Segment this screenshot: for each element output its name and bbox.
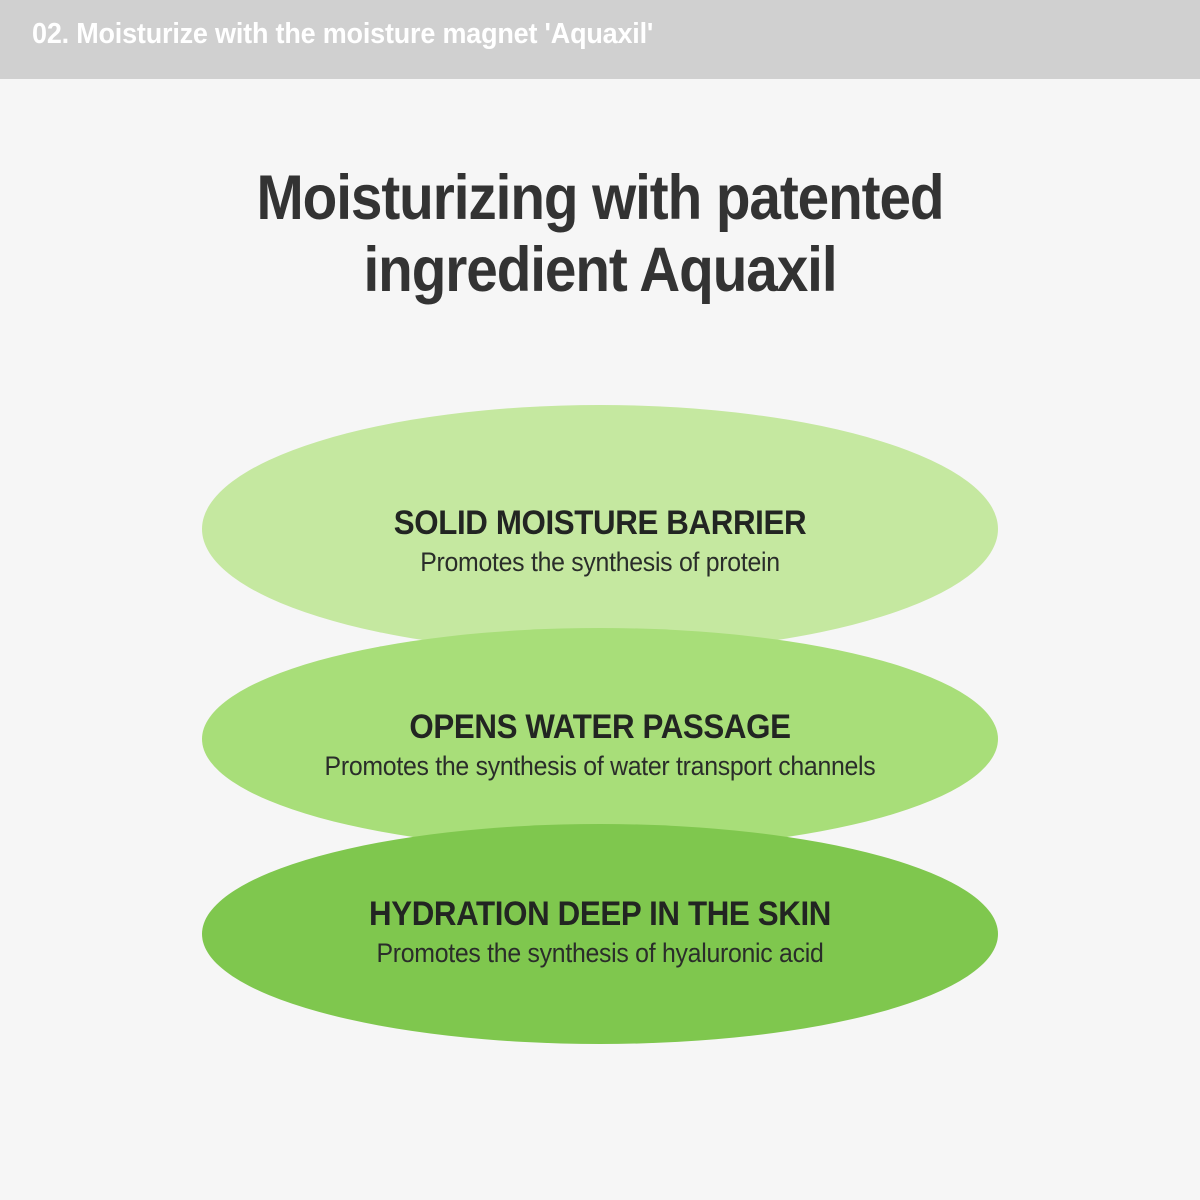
benefit-ellipse-opens-water-passage: OPENS WATER PASSAGE Promotes the synthes… [202,628,998,850]
benefit-subtitle: Promotes the synthesis of hyaluronic aci… [234,936,966,970]
benefit-text-group: SOLID MOISTURE BARRIER Promotes the synt… [202,503,998,579]
benefit-text-group: OPENS WATER PASSAGE Promotes the synthes… [202,707,998,783]
benefit-title: SOLID MOISTURE BARRIER [234,503,966,543]
benefit-ellipse-solid-moisture-barrier: SOLID MOISTURE BARRIER Promotes the synt… [202,405,998,653]
benefit-text-group: HYDRATION DEEP IN THE SKIN Promotes the … [202,894,998,970]
benefit-subtitle: Promotes the synthesis of water transpor… [234,749,966,783]
benefit-ellipse-stack: SOLID MOISTURE BARRIER Promotes the synt… [0,0,1200,1200]
benefit-ellipse-hydration-deep-in-the-skin: HYDRATION DEEP IN THE SKIN Promotes the … [202,824,998,1044]
benefit-title: HYDRATION DEEP IN THE SKIN [234,894,966,934]
benefit-subtitle: Promotes the synthesis of protein [234,545,966,579]
benefit-title: OPENS WATER PASSAGE [234,707,966,747]
page-root: 02. Moisturize with the moisture magnet … [0,0,1200,1200]
